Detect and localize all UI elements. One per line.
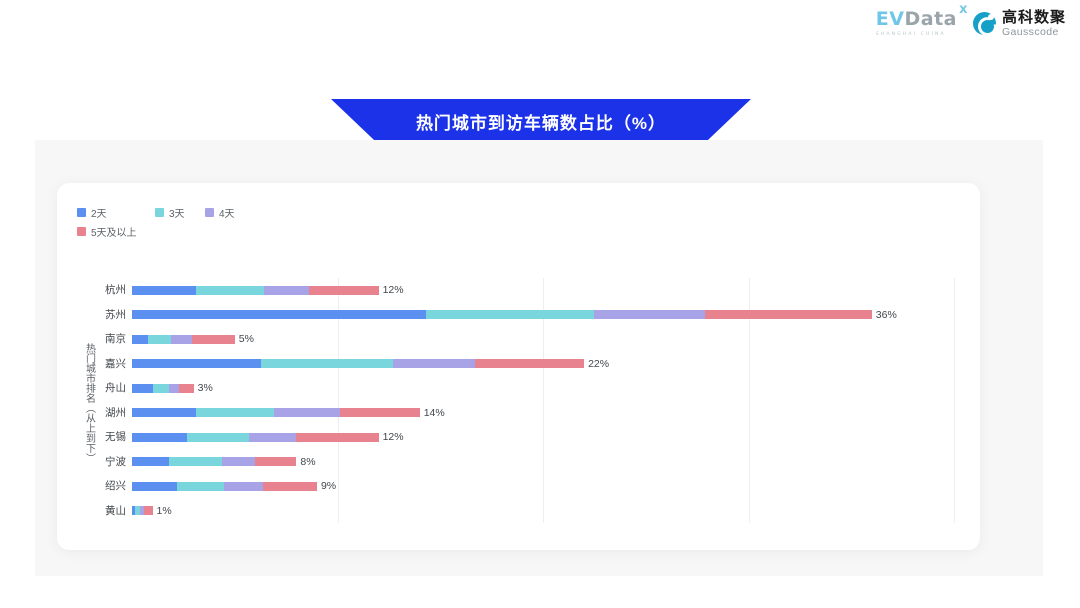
bar-row[interactable]: 嘉兴22% [132, 352, 954, 377]
bar-segment-5天及以上[interactable] [263, 482, 316, 491]
plot-area: 杭州12%苏州36%南京5%嘉兴22%舟山3%湖州14%无锡12%宁波8%绍兴9… [132, 278, 954, 523]
stacked-bar[interactable] [132, 359, 584, 368]
bar-segment-4天[interactable] [274, 408, 340, 417]
category-label-宁波: 宁波 [80, 457, 126, 468]
chart-card: 2天3天4天5天及以上 热门城市排名（从上到下） 杭州12%苏州36%南京5%嘉… [57, 183, 980, 550]
stacked-bar[interactable] [132, 433, 379, 442]
legend-label: 2天 [91, 205, 107, 220]
bar-segment-5天及以上[interactable] [192, 335, 235, 344]
bar-segment-5天及以上[interactable] [705, 310, 871, 319]
evdata-wordmark: EVDatax [876, 10, 957, 29]
stacked-bar[interactable] [132, 482, 317, 491]
gridline [954, 278, 955, 523]
legend-item-5天及以上[interactable]: 5天及以上 [77, 224, 217, 239]
bar-segment-2天[interactable] [132, 457, 169, 466]
bar-segment-5天及以上[interactable] [340, 408, 420, 417]
bar-segment-4天[interactable] [264, 286, 309, 295]
category-label-南京: 南京 [80, 334, 126, 345]
bar-row[interactable]: 无锡12% [132, 425, 954, 450]
gausscode-name-en: Gausscode [1002, 27, 1066, 38]
slide-page: EVDatax SHANGHAI CHINA 高科数聚 Gausscode 热门… [0, 0, 1080, 608]
category-label-无锡: 无锡 [80, 432, 126, 443]
bar-total-label: 5% [239, 334, 254, 345]
bar-segment-5天及以上[interactable] [255, 457, 296, 466]
gausscode-wordmark: 高科数聚 Gausscode [1002, 10, 1066, 38]
legend-label: 4天 [219, 205, 235, 220]
bar-row[interactable]: 杭州12% [132, 278, 954, 303]
gausscode-logo: 高科数聚 Gausscode [973, 10, 1066, 38]
evdata-prefix: EV [876, 8, 905, 30]
bar-segment-5天及以上[interactable] [296, 433, 378, 442]
legend-swatch-icon [155, 208, 164, 217]
category-label-苏州: 苏州 [80, 310, 126, 321]
bar-segment-4天[interactable] [171, 335, 192, 344]
legend-swatch-icon [77, 227, 86, 236]
bar-row[interactable]: 黄山1% [132, 499, 954, 524]
bar-total-label: 36% [876, 310, 897, 321]
bar-segment-3天[interactable] [148, 335, 171, 344]
bar-segment-3天[interactable] [177, 482, 224, 491]
bar-segment-3天[interactable] [196, 286, 264, 295]
bar-segment-3天[interactable] [426, 310, 595, 319]
bar-total-label: 14% [424, 408, 445, 419]
bar-total-label: 12% [383, 432, 404, 443]
bar-segment-4天[interactable] [222, 457, 255, 466]
stacked-bar[interactable] [132, 506, 153, 515]
header-logos: EVDatax SHANGHAI CHINA 高科数聚 Gausscode [876, 10, 1066, 38]
bar-row[interactable]: 舟山3% [132, 376, 954, 401]
bar-segment-2天[interactable] [132, 433, 187, 442]
category-label-舟山: 舟山 [80, 383, 126, 394]
bar-segment-2天[interactable] [132, 384, 153, 393]
legend-item-2天[interactable]: 2天 [77, 205, 155, 220]
bar-segment-2天[interactable] [132, 310, 426, 319]
category-label-湖州: 湖州 [80, 408, 126, 419]
stacked-bar[interactable] [132, 384, 194, 393]
bar-row[interactable]: 苏州36% [132, 303, 954, 328]
evdata-logo: EVDatax SHANGHAI CHINA [876, 10, 957, 37]
bar-segment-4天[interactable] [594, 310, 705, 319]
evdata-x-icon: x [959, 3, 968, 16]
y-axis-title: 热门城市排名（从上到下） [81, 328, 97, 478]
legend-item-4天[interactable]: 4天 [205, 205, 265, 220]
category-label-杭州: 杭州 [80, 285, 126, 296]
legend-swatch-icon [77, 208, 86, 217]
bar-segment-2天[interactable] [132, 335, 148, 344]
gausscode-mark-icon [973, 12, 996, 35]
bar-segment-2天[interactable] [132, 482, 177, 491]
stacked-bar[interactable] [132, 335, 235, 344]
chart-legend: 2天3天4天5天及以上 [77, 205, 297, 239]
bar-segment-4天[interactable] [249, 433, 296, 442]
bar-segment-2天[interactable] [132, 408, 196, 417]
bar-row[interactable]: 南京5% [132, 327, 954, 352]
bar-row[interactable]: 湖州14% [132, 401, 954, 426]
bar-segment-4天[interactable] [224, 482, 263, 491]
legend-label: 3天 [169, 205, 185, 220]
legend-swatch-icon [205, 208, 214, 217]
bar-segment-3天[interactable] [169, 457, 222, 466]
bar-total-label: 3% [198, 383, 213, 394]
bar-segment-4天[interactable] [393, 359, 475, 368]
stacked-bar[interactable] [132, 408, 420, 417]
bar-total-label: 12% [383, 285, 404, 296]
bar-segment-5天及以上[interactable] [309, 286, 379, 295]
bar-segment-2天[interactable] [132, 359, 261, 368]
bar-total-label: 9% [321, 481, 336, 492]
bar-segment-5天及以上[interactable] [179, 384, 193, 393]
evdata-subtitle: SHANGHAI CHINA [876, 32, 946, 37]
bar-segment-5天及以上[interactable] [144, 506, 152, 515]
bar-row[interactable]: 绍兴9% [132, 474, 954, 499]
legend-label: 5天及以上 [91, 224, 137, 239]
legend-item-3天[interactable]: 3天 [155, 205, 205, 220]
stacked-bar[interactable] [132, 310, 872, 319]
stacked-bar[interactable] [132, 457, 296, 466]
bar-total-label: 8% [300, 457, 315, 468]
chart-area: 热门城市排名（从上到下） 杭州12%苏州36%南京5%嘉兴22%舟山3%湖州14… [77, 278, 967, 523]
gausscode-name-cn: 高科数聚 [1002, 10, 1066, 25]
bar-segment-2天[interactable] [132, 286, 196, 295]
category-label-嘉兴: 嘉兴 [80, 359, 126, 370]
evdata-suffix: Data [904, 8, 957, 30]
category-label-黄山: 黄山 [80, 506, 126, 517]
bar-segment-5天及以上[interactable] [475, 359, 584, 368]
bar-total-label: 22% [588, 359, 609, 370]
bar-segment-3天[interactable] [187, 433, 249, 442]
bar-segment-3天[interactable] [196, 408, 274, 417]
stacked-bar[interactable] [132, 286, 379, 295]
bar-row[interactable]: 宁波8% [132, 450, 954, 475]
bar-segment-3天[interactable] [261, 359, 393, 368]
category-label-绍兴: 绍兴 [80, 481, 126, 492]
bar-segment-3天[interactable] [153, 384, 169, 393]
bar-total-label: 1% [157, 506, 172, 517]
bar-segment-4天[interactable] [169, 384, 179, 393]
bar-rows: 杭州12%苏州36%南京5%嘉兴22%舟山3%湖州14%无锡12%宁波8%绍兴9… [132, 278, 954, 523]
